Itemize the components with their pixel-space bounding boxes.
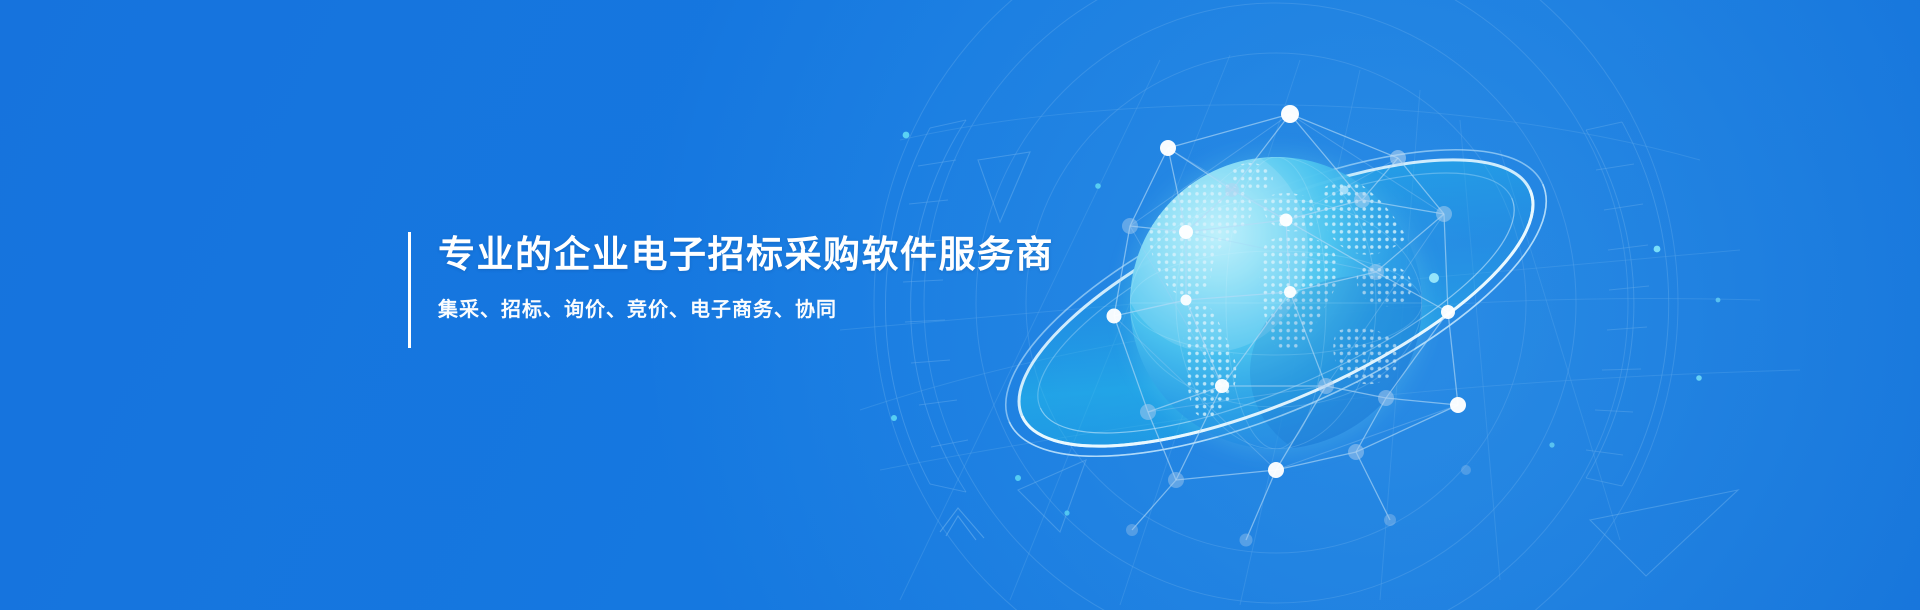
hero-copy-block: 专业的企业电子招标采购软件服务商 集采、招标、询价、竞价、电子商务、协同 xyxy=(408,232,1054,348)
decor-ladder-right xyxy=(1586,122,1669,486)
hero-banner: 专业的企业电子招标采购软件服务商 集采、招标、询价、竞价、电子商务、协同 xyxy=(0,0,1920,610)
page-subtitle: 集采、招标、询价、竞价、电子商务、协同 xyxy=(438,296,1054,324)
page-title: 专业的企业电子招标采购软件服务商 xyxy=(438,232,1054,278)
decor-chevrons xyxy=(940,508,984,540)
